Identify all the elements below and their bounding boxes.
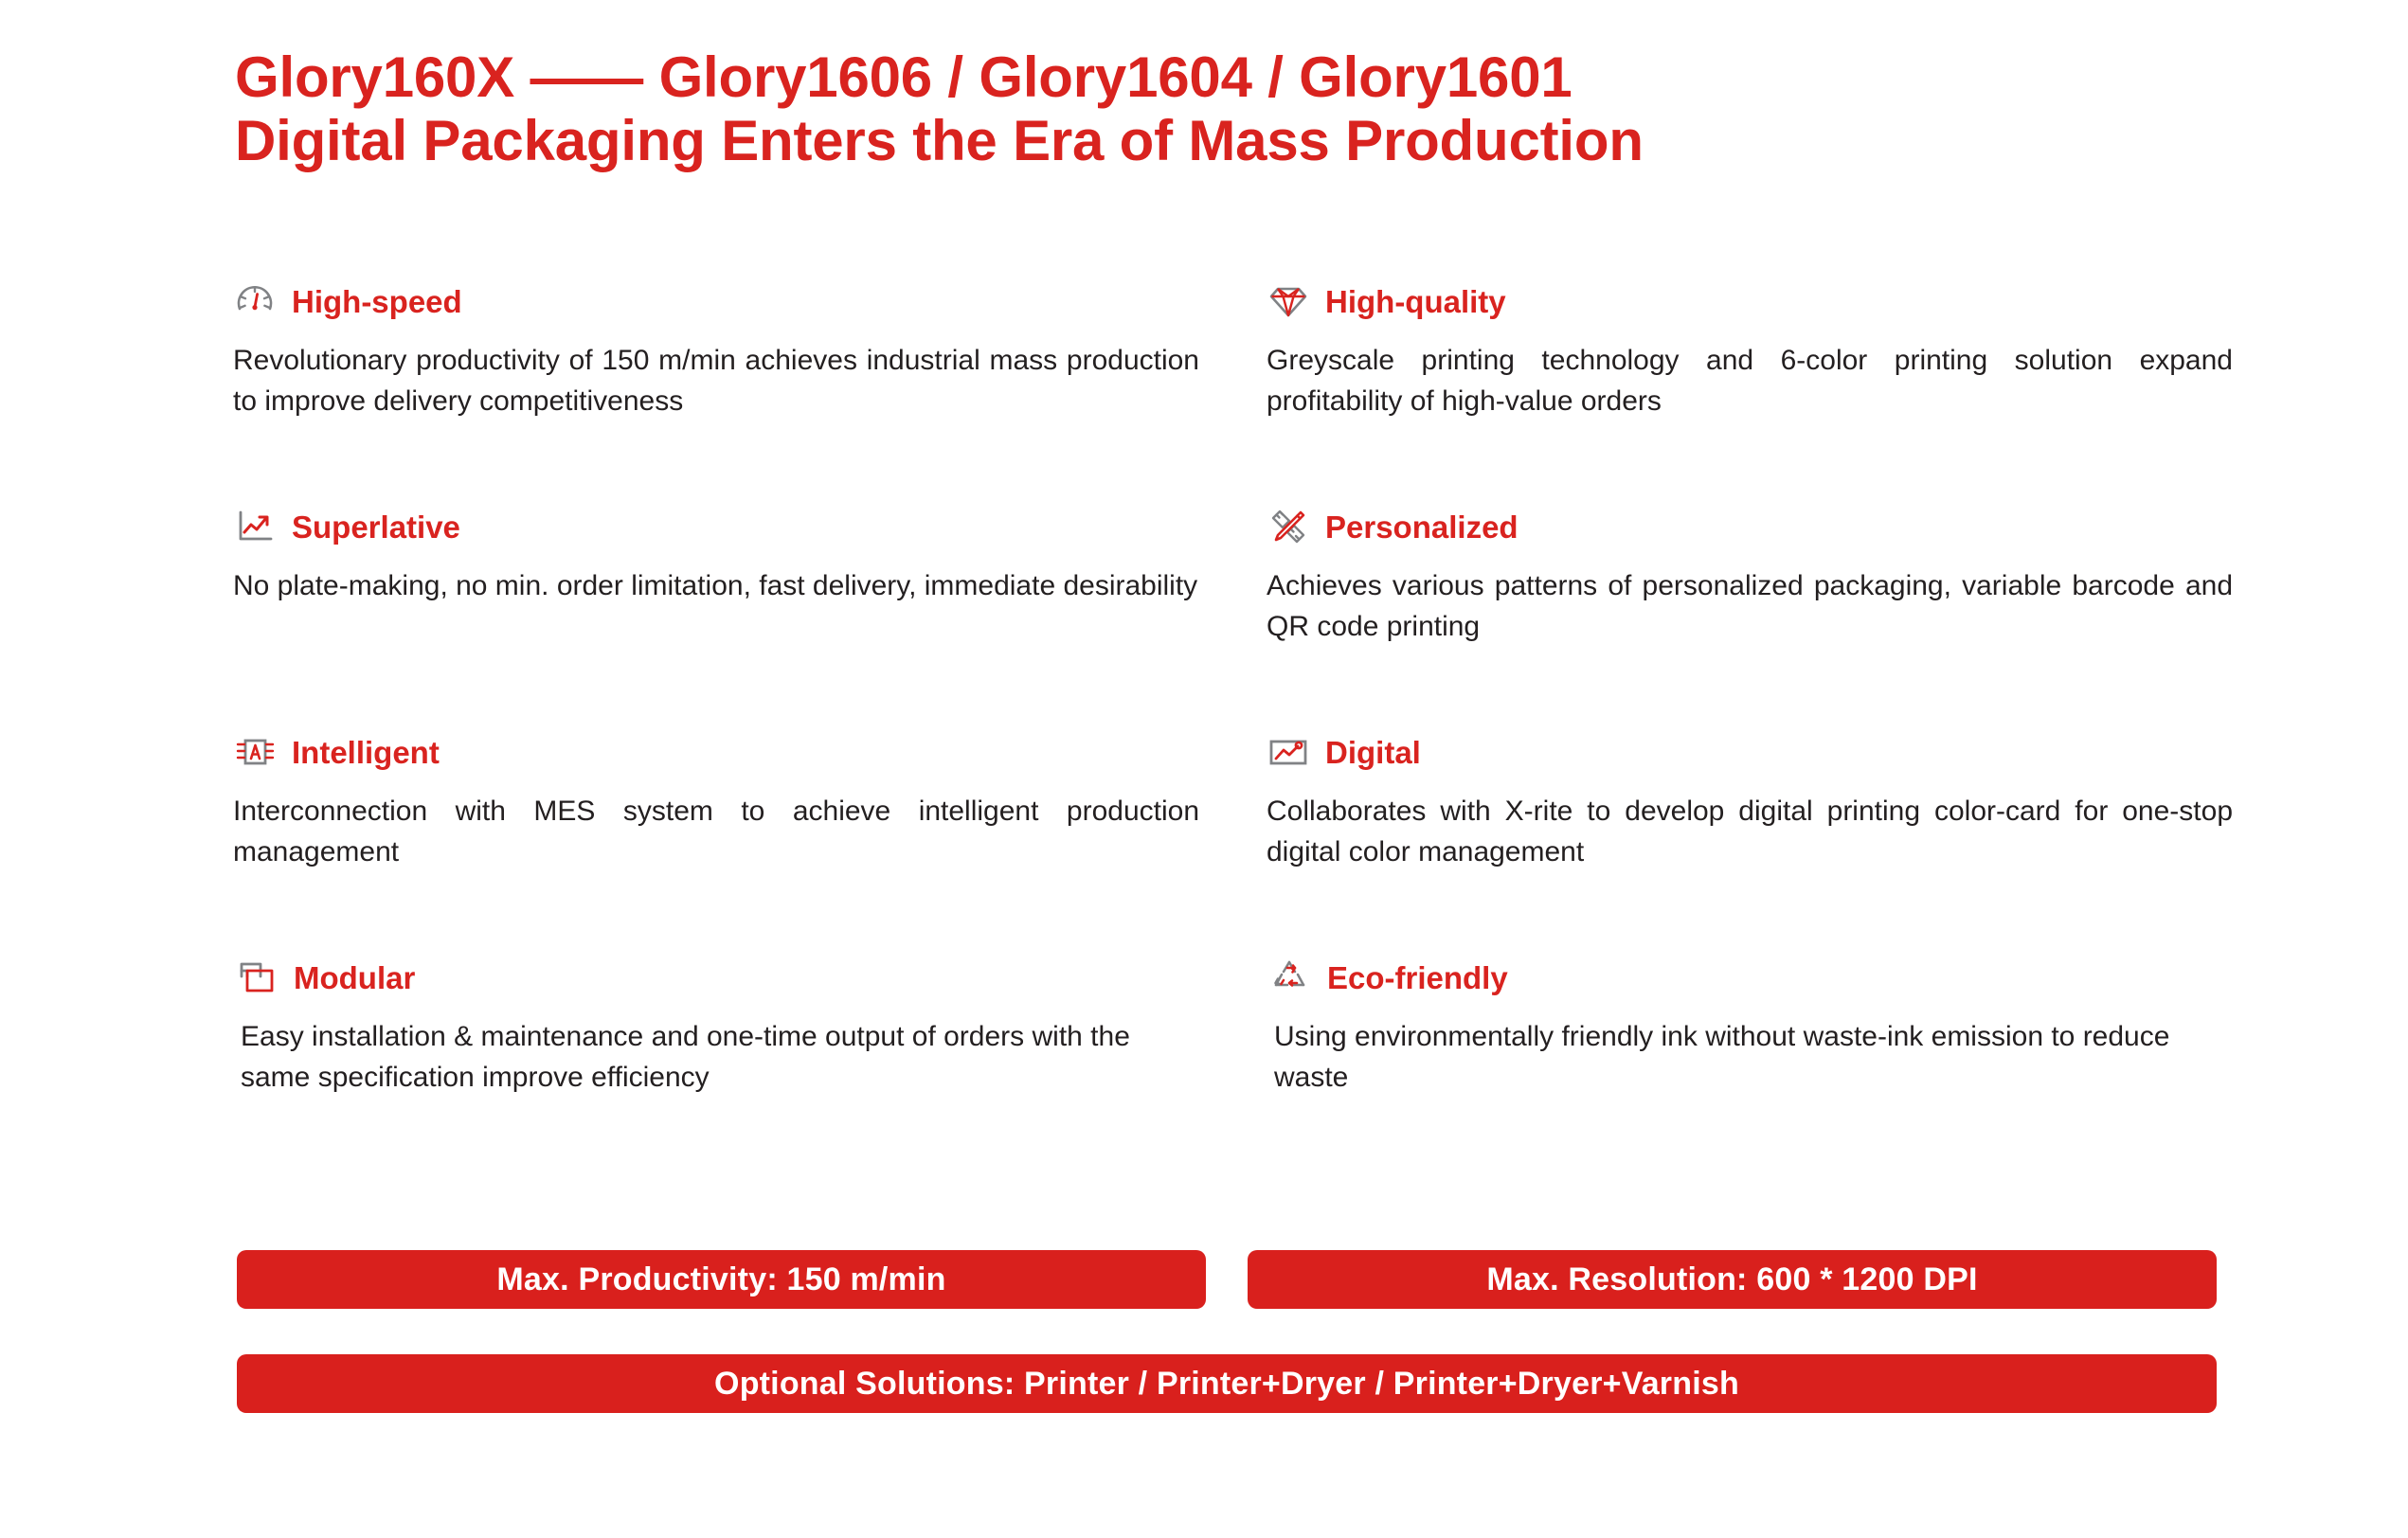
- feature-header: Modular: [233, 951, 1266, 1004]
- feature-header: Superlative: [233, 500, 1266, 553]
- feature-body: Greyscale printing technology and 6-colo…: [1267, 341, 2233, 421]
- feature-header: High-quality: [1267, 275, 2298, 328]
- feature-high-speed: High-speed Revolutionary productivity of…: [233, 275, 1266, 500]
- feature-header: Eco-friendly: [1267, 951, 2298, 1004]
- feature-intelligent: Intelligent Interconnection with MES sys…: [233, 725, 1266, 951]
- feature-high-quality: High-quality Greyscale printing technolo…: [1266, 275, 2298, 500]
- overlapping-squares-icon: [235, 956, 279, 999]
- feature-title: Intelligent: [292, 737, 440, 768]
- slide-root: Glory160X —— Glory1606 / Glory1604 / Glo…: [0, 0, 2408, 1538]
- monitor-chart-icon: [1267, 730, 1310, 774]
- feature-grid: High-speed Revolutionary productivity of…: [233, 275, 2241, 1176]
- feature-title: Modular: [294, 962, 415, 993]
- growth-chart-icon: [233, 505, 277, 548]
- feature-digital: Digital Collaborates with X-rite to deve…: [1266, 725, 2298, 951]
- banner-max-productivity: Max. Productivity: 150 m/min: [237, 1250, 1206, 1309]
- feature-title: High-quality: [1325, 286, 1506, 317]
- title-line-1: Glory160X —— Glory1606 / Glory1604 / Glo…: [235, 45, 2205, 109]
- cpu-chip-icon: [233, 730, 277, 774]
- feature-title: High-speed: [292, 286, 462, 317]
- recycle-icon: [1268, 956, 1312, 999]
- feature-header: Digital: [1267, 725, 2298, 778]
- feature-title: Digital: [1325, 737, 1421, 768]
- banner-optional-solutions: Optional Solutions: Printer / Printer+Dr…: [237, 1354, 2217, 1413]
- feature-body: Revolutionary productivity of 150 m/min …: [233, 341, 1199, 421]
- feature-eco-friendly: Eco-friendly Using environmentally frien…: [1266, 951, 2298, 1176]
- feature-modular: Modular Easy installation & maintenance …: [233, 951, 1266, 1176]
- feature-header: High-speed: [233, 275, 1266, 328]
- feature-body: Collaborates with X-rite to develop digi…: [1267, 792, 2233, 872]
- banner-row-top: Max. Productivity: 150 m/min Max. Resolu…: [237, 1250, 2217, 1309]
- page-title: Glory160X —— Glory1606 / Glory1604 / Glo…: [235, 45, 2205, 172]
- feature-body: No plate-making, no min. order limitatio…: [233, 566, 1199, 607]
- feature-body: Using environmentally friendly ink witho…: [1267, 1017, 2238, 1098]
- feature-superlative: Superlative No plate-making, no min. ord…: [233, 500, 1266, 725]
- diamond-icon: [1267, 279, 1310, 323]
- feature-header: Personalized: [1267, 500, 2298, 553]
- feature-title: Superlative: [292, 511, 460, 543]
- feature-personalized: Personalized Achieves various patterns o…: [1266, 500, 2298, 725]
- banner-max-resolution: Max. Resolution: 600 * 1200 DPI: [1248, 1250, 2217, 1309]
- feature-header: Intelligent: [233, 725, 1266, 778]
- spec-banners: Max. Productivity: 150 m/min Max. Resolu…: [237, 1250, 2217, 1413]
- feature-body: Achieves various patterns of personalize…: [1267, 566, 2233, 647]
- speedometer-icon: [233, 279, 277, 323]
- title-line-2: Digital Packaging Enters the Era of Mass…: [235, 109, 2205, 172]
- feature-title: Eco-friendly: [1327, 962, 1508, 993]
- feature-title: Personalized: [1325, 511, 1518, 543]
- pencil-ruler-icon: [1267, 505, 1310, 548]
- feature-body: Interconnection with MES system to achie…: [233, 792, 1199, 872]
- feature-body: Easy installation & maintenance and one-…: [233, 1017, 1205, 1098]
